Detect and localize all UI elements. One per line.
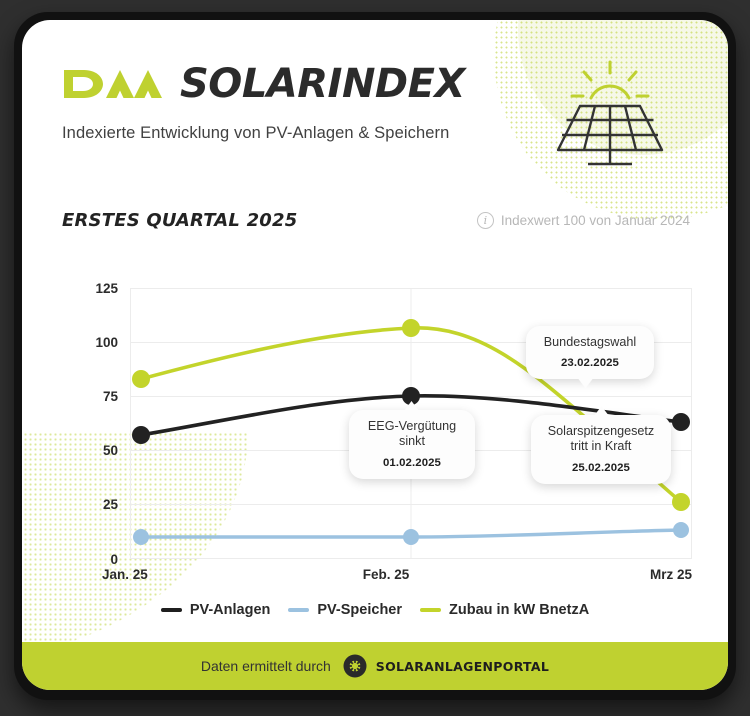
legend-item-zubau[interactable]: Zubau in kW BnetzA (420, 602, 589, 618)
y-tick-75: 75 (103, 389, 119, 404)
point-zubau-mrz (672, 493, 690, 511)
brand-wordmark: SOLARINDEX (180, 64, 465, 104)
legend-label: PV-Anlagen (190, 602, 271, 618)
y-tick-125: 125 (95, 281, 118, 296)
annotation-date: 01.02.2025 (361, 457, 463, 469)
legend-swatch-icon (288, 608, 309, 611)
legend-swatch-icon (420, 608, 441, 611)
section-header-row: ERSTES QUARTAL 2025 i Indexwert 100 von … (62, 210, 690, 231)
annotation-solarspitzengesetz[interactable]: Solarspitzengesetz tritt in Kraft 25.02.… (531, 415, 671, 484)
solaranlagenportal-gear-icon (343, 654, 367, 678)
point-anlagen-mrz (672, 413, 690, 431)
index-note-label: Indexwert 100 von Januar 2024 (501, 213, 690, 228)
annotation-title: Solarspitzengesetz (543, 424, 659, 439)
card-header: SOLARINDEX Indexierte Entwicklung von PV… (62, 58, 522, 143)
y-tick-0: 0 (110, 552, 118, 567)
brand-subtitle: Indexierte Entwicklung von PV-Anlagen & … (62, 124, 522, 143)
annotation-bundestagswahl[interactable]: Bundestagswahl 23.02.2025 (526, 326, 654, 379)
legend-label: Zubau in kW BnetzA (449, 602, 589, 618)
annotation-title-2: sinkt (361, 434, 463, 449)
x-tick-feb: Feb. 25 (363, 567, 410, 580)
card-footer: Daten ermittelt durch SOLARANLAGENPORTAL (22, 642, 728, 690)
point-speicher-mrz (673, 522, 689, 538)
y-tick-100: 100 (95, 335, 118, 350)
x-tick-jan: Jan. 25 (102, 567, 148, 580)
index-note: i Indexwert 100 von Januar 2024 (477, 212, 690, 229)
daa-logo-icon (62, 64, 166, 104)
info-icon[interactable]: i (477, 212, 494, 229)
annotation-date: 23.02.2025 (538, 357, 642, 369)
x-tick-mrz: Mrz 25 (650, 567, 693, 580)
y-tick-50: 50 (103, 443, 118, 458)
brand-line: SOLARINDEX (62, 58, 522, 110)
screenshot-root: SOLARINDEX Indexierte Entwicklung von PV… (0, 0, 750, 716)
annotation-title-2: tritt in Kraft (543, 439, 659, 454)
solarindex-card: SOLARINDEX Indexierte Entwicklung von PV… (22, 20, 728, 690)
page-title: ERSTES QUARTAL 2025 (62, 210, 297, 231)
annotation-title: Bundestagswahl (538, 335, 642, 350)
y-tick-25: 25 (103, 497, 119, 512)
chart-legend: PV-Anlagen PV-Speicher Zubau in kW Bnetz… (22, 602, 728, 618)
annotation-title: EEG-Vergütung (361, 419, 463, 434)
point-anlagen-jan (132, 426, 150, 444)
annotation-eeg-verguetung[interactable]: EEG-Vergütung sinkt 01.02.2025 (349, 410, 475, 479)
footer-brand-label: SOLARANLAGENPORTAL (376, 659, 549, 674)
legend-item-pv-speicher[interactable]: PV-Speicher (288, 602, 402, 618)
legend-label: PV-Speicher (317, 602, 402, 618)
point-speicher-jan (133, 529, 149, 545)
footer-brand[interactable]: SOLARANLAGENPORTAL (343, 654, 549, 678)
point-zubau-feb (402, 319, 420, 337)
point-speicher-feb (403, 529, 419, 545)
solar-panel-icon (540, 58, 680, 170)
footer-text: Daten ermittelt durch (201, 658, 331, 674)
index-line-chart: 125 100 75 50 25 0 (60, 260, 700, 580)
legend-item-pv-anlagen[interactable]: PV-Anlagen (161, 602, 271, 618)
legend-swatch-icon (161, 608, 182, 611)
point-zubau-jan (132, 370, 150, 388)
annotation-date: 25.02.2025 (543, 462, 659, 474)
